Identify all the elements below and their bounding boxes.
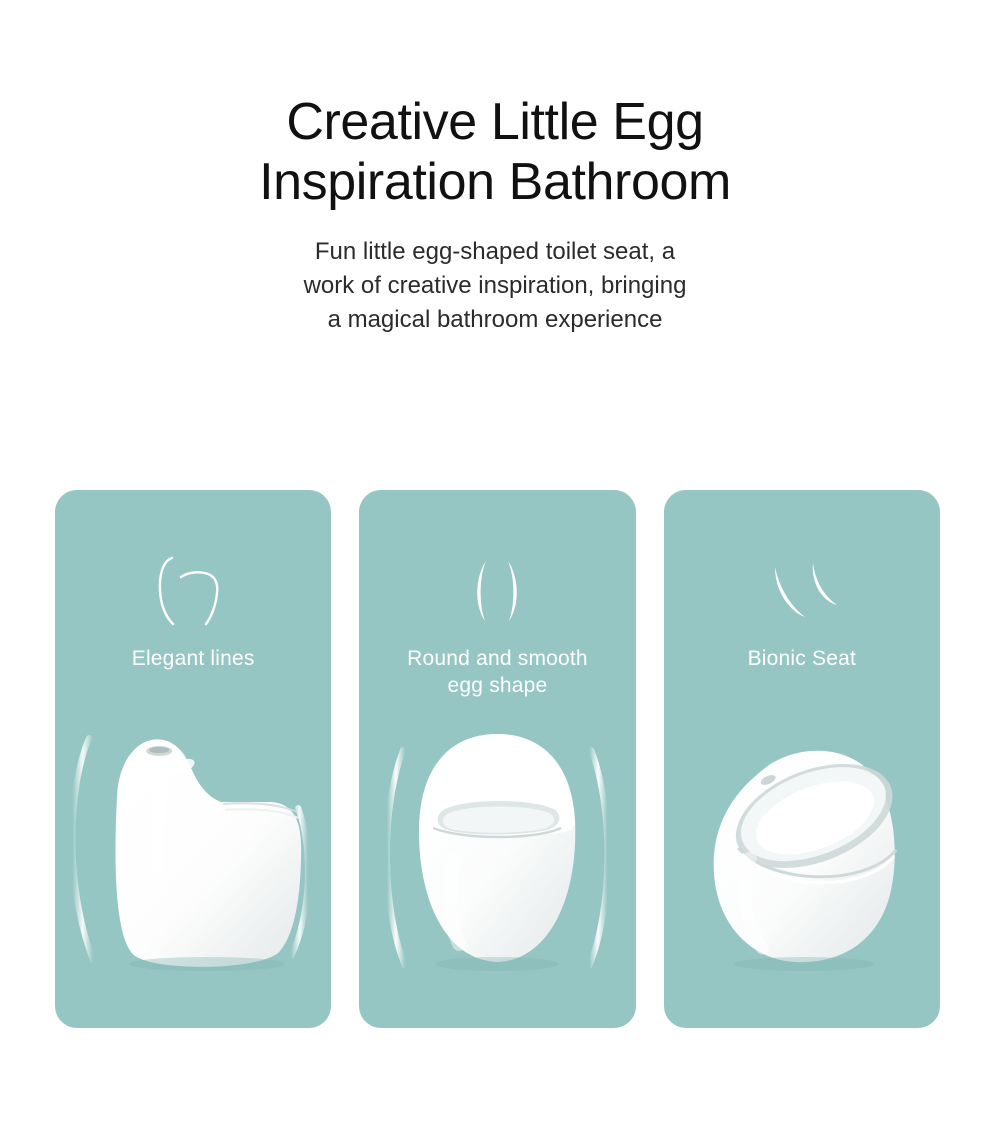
toilet-front-view-photo <box>359 698 635 1028</box>
feature-card-label-line-1: Bionic Seat <box>748 647 856 670</box>
page-subtitle: Fun little egg-shaped toilet seat, a wor… <box>185 235 805 337</box>
page-header: Creative Little Egg Inspiration Bathroom… <box>0 0 990 337</box>
toilet-side-profile-outline-icon <box>55 552 331 630</box>
feature-card-elegant-lines[interactable]: Elegant lines <box>55 490 331 1028</box>
feature-card-label-line-2: egg shape <box>448 674 548 697</box>
feature-card-label-line-1: Elegant lines <box>132 647 255 670</box>
double-diagonal-crescent-icon <box>664 552 940 630</box>
toilet-three-quarter-view-photo <box>664 698 940 1028</box>
page-subtitle-line-3: a magical bathroom experience <box>185 303 805 337</box>
page-title-line-1: Creative Little Egg <box>115 92 875 152</box>
feature-card-label: Round and smooth egg shape <box>373 645 621 700</box>
feature-card-label-line-1: Round and smooth <box>407 647 588 670</box>
feature-card-label: Bionic Seat <box>678 645 926 672</box>
feature-card-list: Elegant lines <box>55 490 940 1028</box>
toilet-side-view-photo <box>55 698 331 1028</box>
feature-card-egg-shape[interactable]: Round and smooth egg shape <box>359 490 635 1028</box>
page-subtitle-line-1: Fun little egg-shaped toilet seat, a <box>185 235 805 269</box>
page-subtitle-line-2: work of creative inspiration, bringing <box>185 269 805 303</box>
page-title: Creative Little Egg Inspiration Bathroom <box>115 92 875 213</box>
feature-card-bionic-seat[interactable]: Bionic Seat <box>664 490 940 1028</box>
facing-crescents-icon <box>359 552 635 630</box>
page-title-line-2: Inspiration Bathroom <box>115 152 875 212</box>
feature-card-label: Elegant lines <box>69 645 317 672</box>
